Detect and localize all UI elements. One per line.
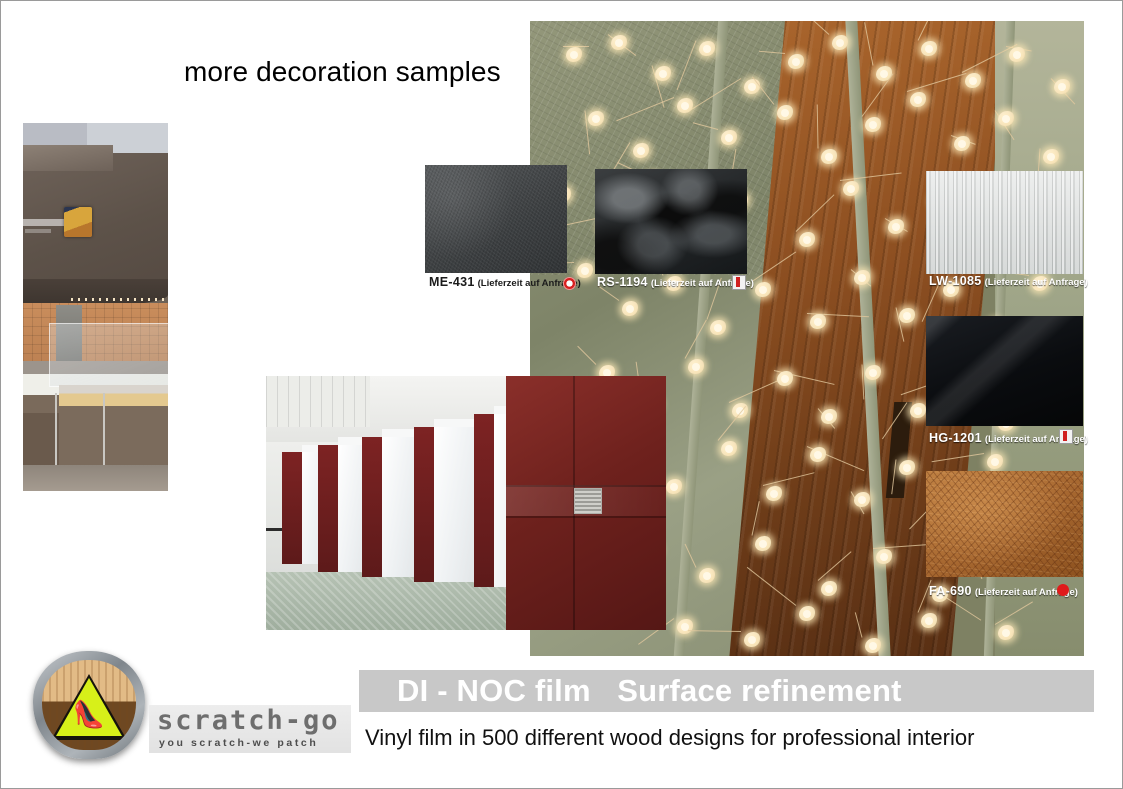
cafeteria-wall-logo [23, 219, 65, 226]
blossom-light-icon [907, 91, 929, 109]
corridor-ceiling-grid [266, 376, 370, 427]
blossom-light-icon [818, 580, 840, 598]
blossom-light-icon [563, 46, 585, 64]
blossom-light-icon [818, 148, 840, 166]
high-heel-shoe-icon: 👠 [73, 701, 105, 727]
brand-logo[interactable]: 👠 scratch-go you scratch-we patch [31, 649, 351, 761]
swatch-texture-lw-1085 [926, 171, 1083, 274]
blossom-light-icon [696, 567, 718, 585]
blossom-light-icon [796, 231, 818, 249]
blossom-light-icon [774, 370, 796, 388]
swatch-texture-me-431 [425, 165, 567, 273]
cafeteria-menu-sign [64, 207, 92, 237]
blossom-light-icon [663, 478, 685, 496]
sample-swatch-lw-1085[interactable] [926, 171, 1083, 274]
footer-subtitle: Vinyl film in 500 different wood designs… [365, 725, 1095, 751]
corridor-wall-panel [282, 452, 302, 564]
blossom-light-icon [741, 631, 763, 649]
sample-swatch-fa-690[interactable] [926, 471, 1083, 577]
blossom-light-icon [608, 34, 630, 52]
logo-wordmark: scratch-go [157, 705, 349, 736]
blossom-light-icon [918, 40, 940, 58]
blossom-light-icon [896, 307, 918, 325]
sample-label-fa-690: FA-690 (Lieferzeit auf Anfrage) [929, 584, 1078, 598]
blossom-light-icon [918, 612, 940, 630]
sample-swatch-me-431[interactable] [425, 165, 567, 273]
cafeteria-sneeze-guard [49, 323, 168, 387]
sample-label-lw-1085: LW-1085 (Lieferzeit auf Anfrage) [929, 274, 1088, 288]
blossom-light-icon [652, 65, 674, 83]
blossom-light-icon [718, 129, 740, 147]
blossom-light-icon [851, 269, 873, 287]
slide-canvas: more decoration samples [0, 0, 1123, 789]
blossom-light-icon [696, 40, 718, 58]
note-icon [1059, 429, 1073, 444]
gear-icon [563, 277, 576, 290]
blossom-light-icon [851, 491, 873, 509]
blossom-light-icon [718, 440, 740, 458]
blossom-light-icon [763, 485, 785, 503]
swatch-texture-rs-1194 [595, 169, 747, 274]
dot-icon [1057, 584, 1069, 596]
blossom-light-icon [1051, 78, 1073, 96]
note-icon [732, 275, 746, 290]
sample-swatch-rs-1194[interactable] [595, 169, 747, 274]
cafeteria-wall-logo-sub [25, 229, 51, 233]
photo-cafeteria-interior [23, 123, 168, 491]
blossom-light-icon [885, 218, 907, 236]
blossom-light-icon [873, 548, 895, 566]
cafeteria-floor [23, 465, 168, 491]
blossom-light-icon [862, 116, 884, 134]
blossom-light-icon [807, 446, 829, 464]
swatch-texture-hg-1201 [926, 316, 1083, 426]
blossom-light-icon [818, 408, 840, 426]
blossom-light-icon [807, 313, 829, 331]
blossom-light-icon [951, 135, 973, 153]
blossom-light-icon [585, 110, 607, 128]
blossom-light-icon [707, 319, 729, 337]
blossom-light-icon [674, 97, 696, 115]
blossom-light-icon [962, 72, 984, 90]
blossom-light-icon [896, 459, 918, 477]
blossom-light-icon [752, 281, 774, 299]
blossom-light-icon [619, 300, 641, 318]
blossom-light-icon [1040, 148, 1062, 166]
blossom-light-icon [862, 364, 884, 382]
blossom-light-icon [785, 53, 807, 71]
blossom-light-icon [862, 637, 884, 655]
blossom-light-icon [829, 34, 851, 52]
cafeteria-soffit [23, 279, 168, 305]
sample-label-rs-1194: RS-1194 (Lieferzeit auf Anfrage) [597, 275, 754, 289]
shield-emblem-icon: 👠 [33, 651, 145, 759]
blossom-light-icon [995, 624, 1017, 642]
blossom-light-icon [984, 453, 1006, 471]
logo-tagline: you scratch-we patch [159, 737, 351, 749]
sample-swatch-hg-1201[interactable] [926, 316, 1083, 426]
blossom-light-icon [1006, 46, 1028, 64]
footer-title: DI - NOC film Surface refinement [359, 670, 1094, 712]
sample-label-me-431: ME-431 (Lieferzeit auf Anfrage) [429, 275, 581, 289]
blossom-light-icon [840, 180, 862, 198]
photo-elevator-lobby-corridor [266, 376, 666, 630]
corridor-air-vent [574, 488, 602, 514]
blossom-light-icon [685, 358, 707, 376]
blossom-light-icon [630, 142, 652, 160]
swatch-texture-fa-690 [926, 471, 1083, 577]
blossom-light-icon [752, 535, 774, 553]
blossom-light-icon [995, 110, 1017, 128]
blossom-light-icon [674, 618, 696, 636]
blossom-light-icon [796, 605, 818, 623]
blossom-light-icon [774, 104, 796, 122]
footer-title-bar: DI - NOC film Surface refinement [359, 670, 1094, 712]
page-title: more decoration samples [184, 55, 514, 89]
